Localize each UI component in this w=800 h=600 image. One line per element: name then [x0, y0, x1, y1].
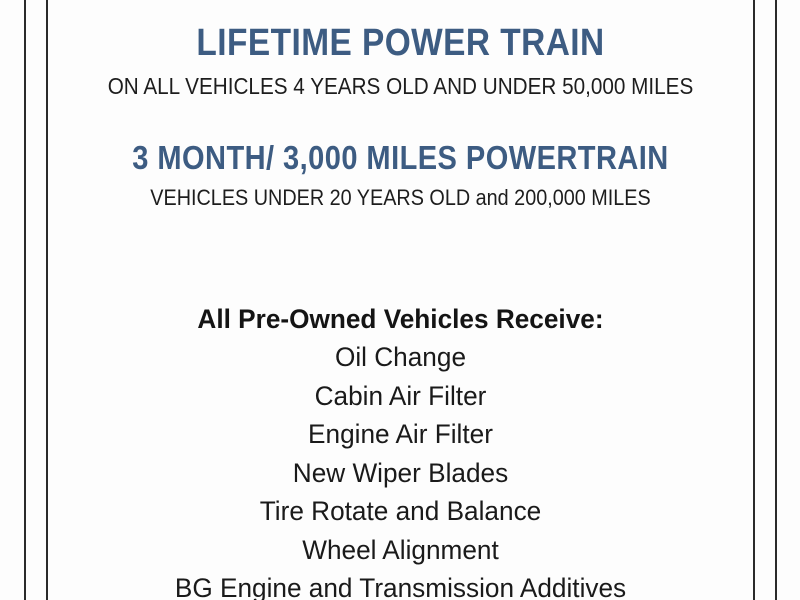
warranty-offer-subtitle: ON ALL VEHICLES 4 YEARS OLD AND UNDER 50… [83, 75, 718, 98]
border-rule-left-outer [24, 0, 26, 600]
warranty-offer-title: LIFETIME POWER TRAIN [90, 24, 710, 62]
border-rule-right-inner [753, 0, 755, 600]
warranty-offer-lifetime: LIFETIME POWER TRAIN ON ALL VEHICLES 4 Y… [48, 24, 753, 98]
border-rule-right-outer [775, 0, 777, 600]
service-item: Tire Rotate and Balance [59, 492, 743, 531]
warranty-flyer: LIFETIME POWER TRAIN ON ALL VEHICLES 4 Y… [0, 0, 800, 600]
service-item: Wheel Alignment [59, 531, 743, 570]
service-item: Cabin Air Filter [59, 377, 743, 416]
service-item: Engine Air Filter [59, 415, 743, 454]
warranty-offer-three-month: 3 MONTH/ 3,000 MILES POWERTRAIN VEHICLES… [48, 141, 753, 209]
warranty-offer-title: 3 MONTH/ 3,000 MILES POWERTRAIN [90, 141, 710, 174]
service-item: BG Engine and Transmission Additives [59, 569, 743, 600]
included-services-section: All Pre-Owned Vehicles Receive: Oil Chan… [48, 300, 753, 600]
service-item: New Wiper Blades [59, 454, 743, 493]
warranty-offer-subtitle: VEHICLES UNDER 20 YEARS OLD and 200,000 … [83, 187, 718, 209]
flyer-content: LIFETIME POWER TRAIN ON ALL VEHICLES 4 Y… [48, 0, 753, 600]
service-item: Oil Change [59, 338, 743, 377]
included-services-heading: All Pre-Owned Vehicles Receive: [59, 300, 743, 338]
